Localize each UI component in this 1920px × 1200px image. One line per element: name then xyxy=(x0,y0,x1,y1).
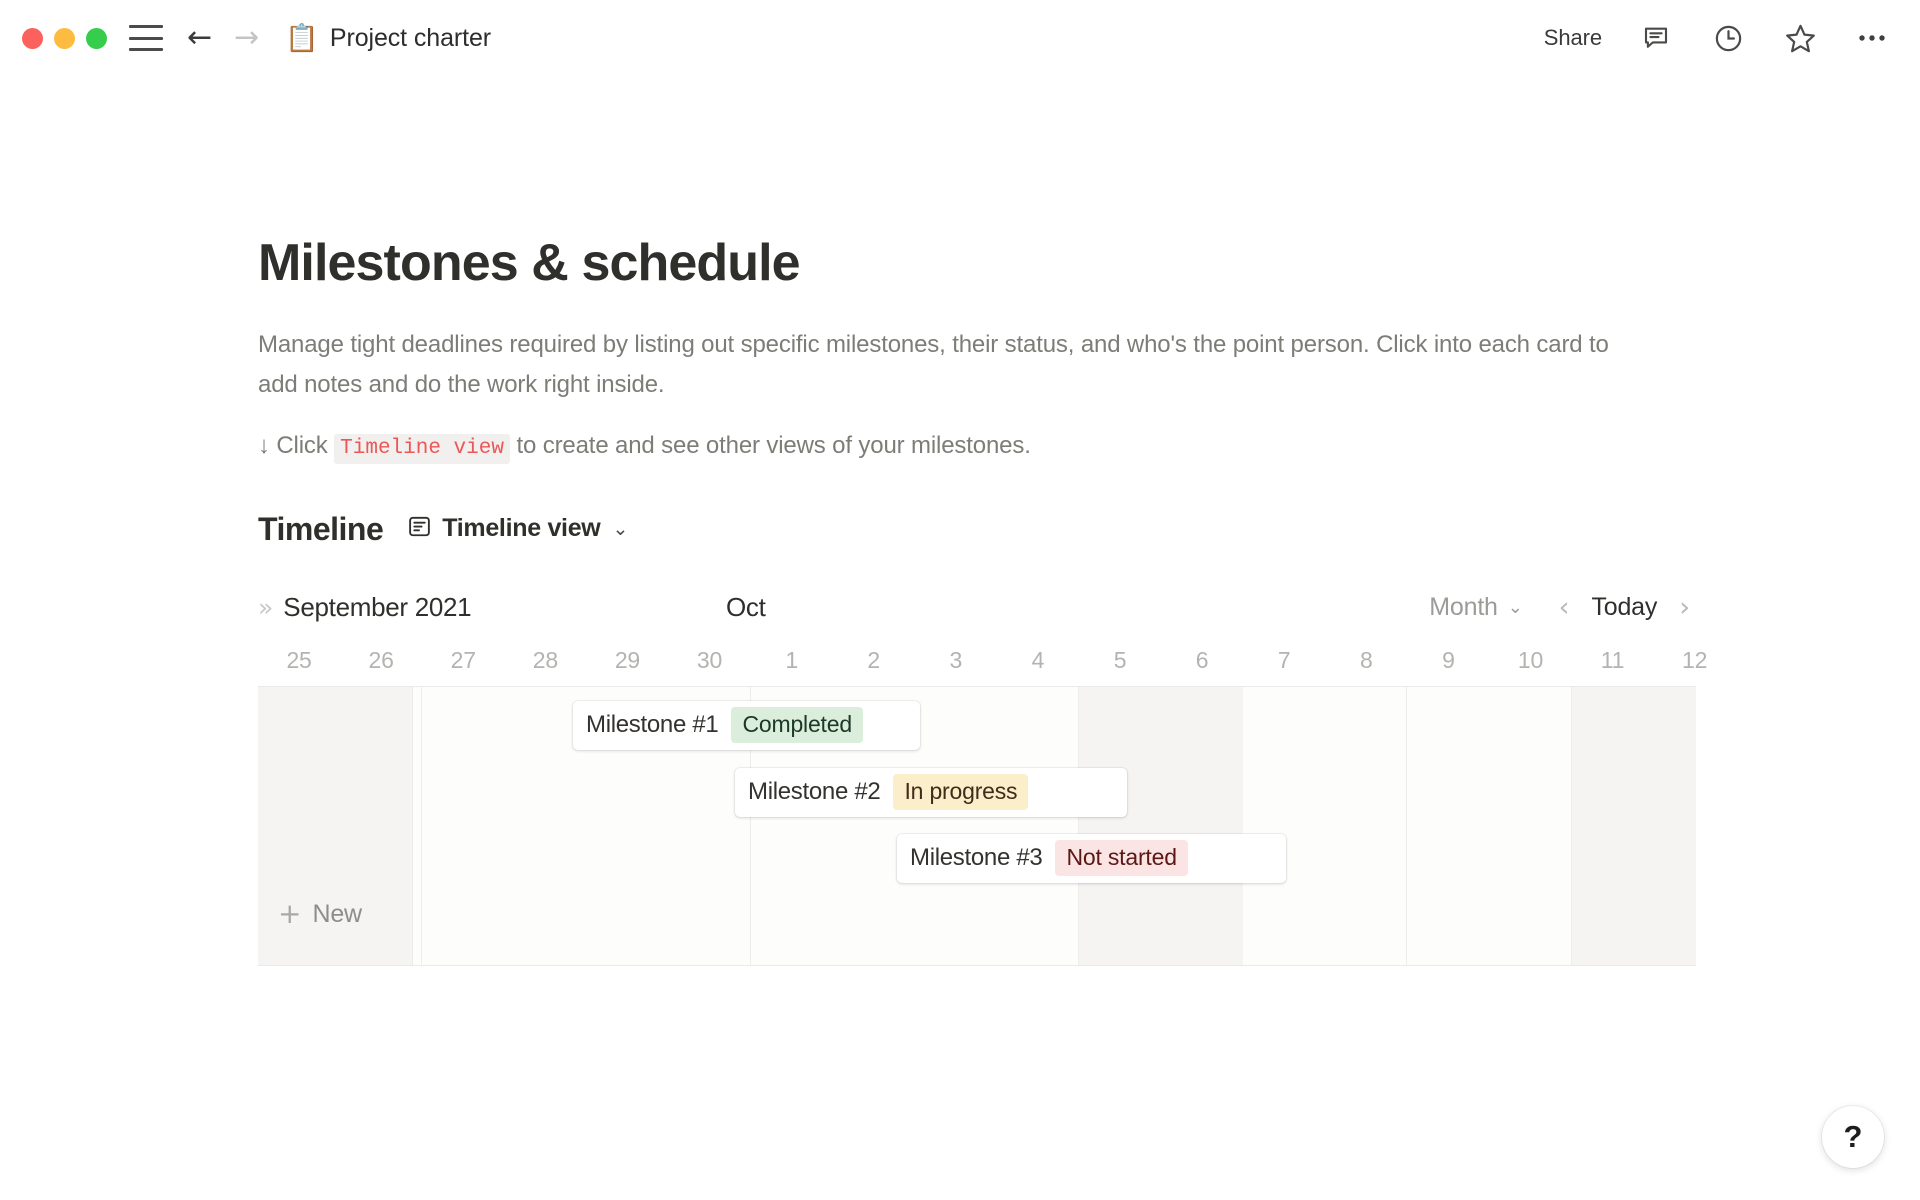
timeline-view-icon xyxy=(407,514,432,544)
timeline-section-header: Timeline Timeline view ⌄ xyxy=(258,511,1698,548)
date-tick: 9 xyxy=(1407,647,1489,674)
traffic-light-controls xyxy=(22,28,107,49)
timeline-hint-paragraph: ↓ Click Timeline view to create and see … xyxy=(258,427,1698,466)
content-column: Milestones & schedule Manage tight deadl… xyxy=(258,234,1698,966)
timeline-bar[interactable]: Milestone #1Completed xyxy=(573,701,920,750)
timeline-grid-columns xyxy=(258,687,1696,965)
status-badge: Not started xyxy=(1055,840,1187,876)
close-window-button[interactable] xyxy=(22,28,43,49)
timeline-day-column xyxy=(1489,687,1571,965)
zoom-window-button[interactable] xyxy=(86,28,107,49)
clock-icon[interactable] xyxy=(1706,16,1750,60)
timeline-day-column xyxy=(1161,687,1243,965)
page-body: Milestones & schedule Manage tight deadl… xyxy=(0,234,1920,966)
date-tick: 29 xyxy=(586,647,668,674)
status-badge: In progress xyxy=(893,774,1028,810)
timeline-toolbar-right: Month ⌄ ‹ Today › xyxy=(1429,592,1696,623)
help-button[interactable]: ? xyxy=(1822,1106,1884,1168)
plus-icon: + xyxy=(278,900,301,928)
window-title-bar: ← → 📋 Project charter Share xyxy=(0,0,1920,76)
hint-suffix-text: to create and see other views of your mi… xyxy=(510,432,1031,459)
arrow-left-icon[interactable]: ← xyxy=(187,23,212,53)
title-bar-actions: Share xyxy=(1544,16,1894,60)
timeline-date-ruler: 252627282930123456789101112 xyxy=(258,636,1696,686)
ellipsis-icon[interactable] xyxy=(1850,16,1894,60)
timeline-day-column xyxy=(1243,687,1325,965)
timeline-heading: Timeline xyxy=(258,511,383,548)
date-tick: 7 xyxy=(1243,647,1325,674)
arrow-right-icon[interactable]: → xyxy=(234,23,259,53)
chevron-down-icon: ⌄ xyxy=(1508,597,1523,618)
date-tick: 2 xyxy=(833,647,915,674)
timeline-bar-title: Milestone #3 xyxy=(910,844,1042,872)
timeline-today-button[interactable]: Today xyxy=(1591,593,1657,622)
timeline-grid-body: + New Milestone #1CompletedMilestone #2I… xyxy=(258,686,1696,966)
date-tick: 5 xyxy=(1079,647,1161,674)
page-title: Milestones & schedule xyxy=(258,234,1698,294)
timeline-prev-button[interactable]: ‹ xyxy=(1553,592,1576,623)
collapse-sidebar-icon[interactable]: » xyxy=(258,593,269,622)
date-tick: 27 xyxy=(422,647,504,674)
timeline-toolbar: » September 2021 Oct Month ⌄ ‹ Today › xyxy=(258,580,1696,636)
timeline-scale-selector[interactable]: Month ⌄ xyxy=(1429,593,1522,622)
date-tick: 1 xyxy=(751,647,833,674)
timeline-widget: » September 2021 Oct Month ⌄ ‹ Today › 2… xyxy=(258,580,1696,966)
date-tick: 8 xyxy=(1325,647,1407,674)
timeline-day-column xyxy=(915,687,997,965)
comment-icon[interactable] xyxy=(1634,16,1678,60)
timeline-bar-title: Milestone #1 xyxy=(586,711,718,739)
page-description: Manage tight deadlines required by listi… xyxy=(258,325,1638,406)
breadcrumb-document-title[interactable]: Project charter xyxy=(330,24,491,53)
minimize-window-button[interactable] xyxy=(54,28,75,49)
timeline-scale-label: Month xyxy=(1429,593,1497,622)
date-tick: 12 xyxy=(1654,647,1736,674)
date-tick: 30 xyxy=(668,647,750,674)
status-badge: Completed xyxy=(731,707,862,743)
timeline-day-column xyxy=(1572,687,1654,965)
date-tick: 3 xyxy=(915,647,997,674)
timeline-bar[interactable]: Milestone #3Not started xyxy=(897,834,1286,883)
share-button[interactable]: Share xyxy=(1544,25,1602,51)
date-tick: 10 xyxy=(1489,647,1571,674)
timeline-day-column xyxy=(1079,687,1161,965)
new-milestone-label: New xyxy=(312,900,361,929)
view-selector-label: Timeline view xyxy=(442,514,600,543)
timeline-next-button[interactable]: › xyxy=(1673,592,1696,623)
timeline-day-column xyxy=(1654,687,1696,965)
star-icon[interactable] xyxy=(1778,16,1822,60)
timeline-bar-title: Milestone #2 xyxy=(748,778,880,806)
timeline-day-column xyxy=(997,687,1079,965)
clipboard-icon: 📋 xyxy=(285,25,319,52)
timeline-month-secondary: Oct xyxy=(726,592,766,623)
date-tick: 4 xyxy=(997,647,1079,674)
timeline-day-column xyxy=(1407,687,1489,965)
timeline-day-column xyxy=(1325,687,1407,965)
hamburger-icon[interactable] xyxy=(129,25,163,51)
timeline-day-column xyxy=(422,687,504,965)
date-tick: 25 xyxy=(258,647,340,674)
date-tick: 28 xyxy=(504,647,586,674)
date-tick: 26 xyxy=(340,647,422,674)
timeline-bar[interactable]: Milestone #2In progress xyxy=(735,768,1127,817)
date-tick: 6 xyxy=(1161,647,1243,674)
date-tick: 11 xyxy=(1572,647,1654,674)
hint-prefix-text: ↓ Click xyxy=(258,432,334,459)
chevron-down-icon: ⌄ xyxy=(612,518,628,540)
inline-code-timeline-view: Timeline view xyxy=(334,434,510,464)
timeline-month-primary: September 2021 xyxy=(283,592,471,623)
new-milestone-button[interactable]: + New xyxy=(278,900,362,929)
view-selector-timeline-view[interactable]: Timeline view ⌄ xyxy=(403,512,632,546)
